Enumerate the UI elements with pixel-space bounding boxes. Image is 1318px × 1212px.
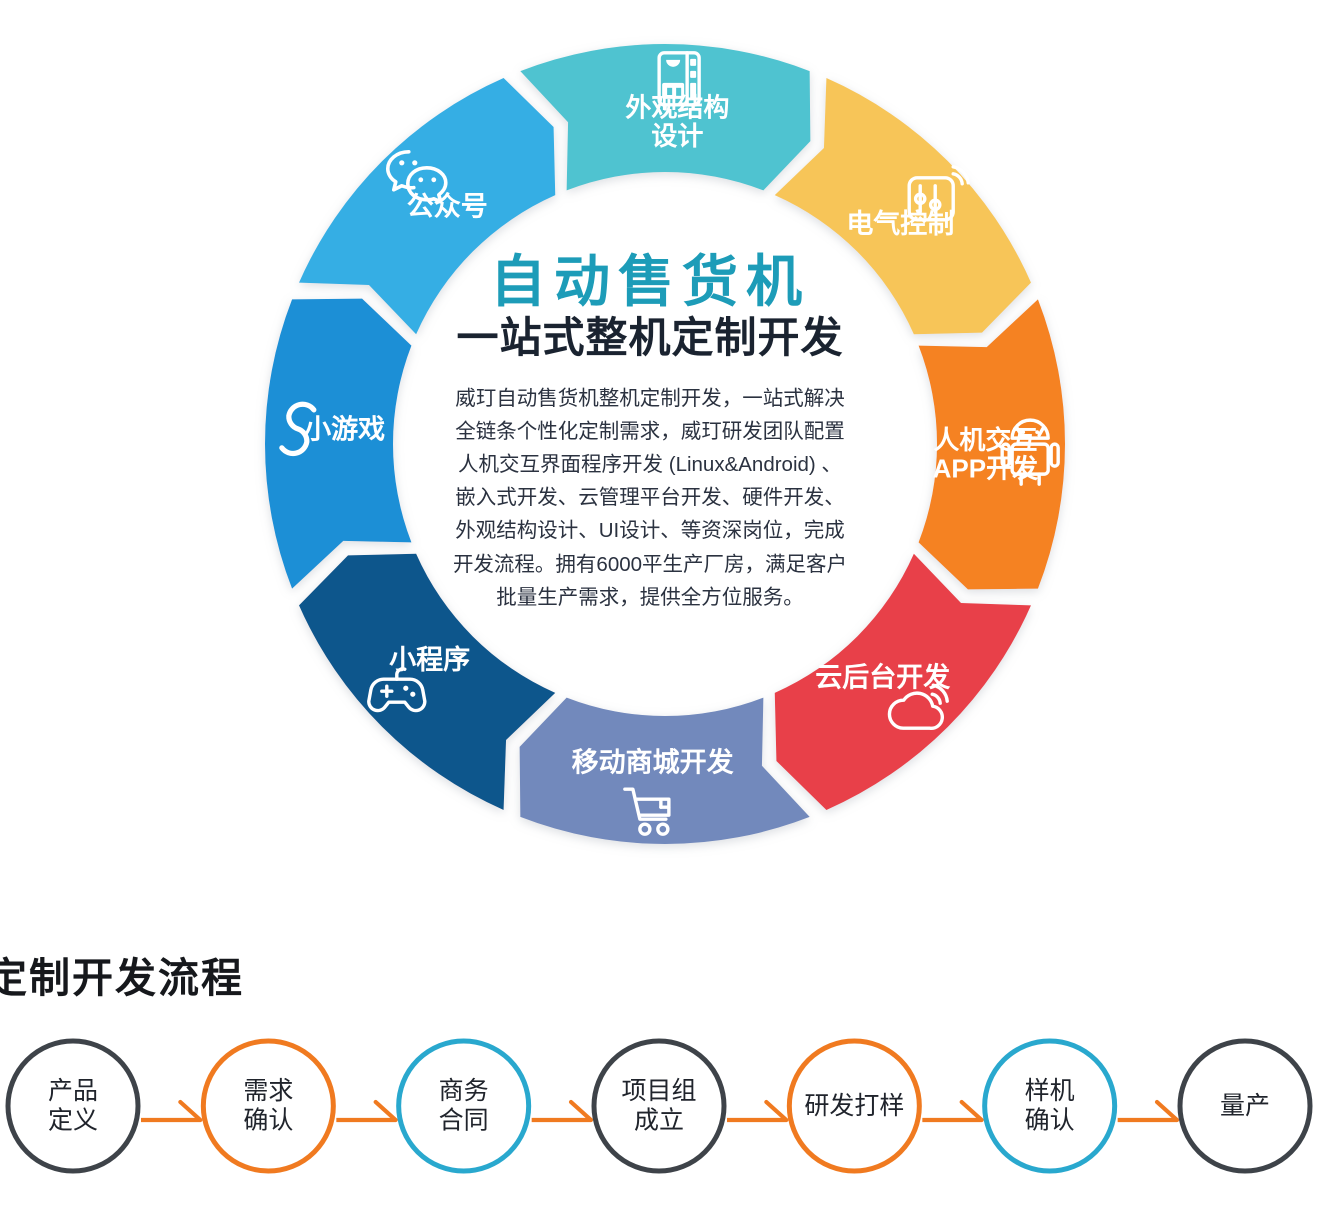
ring-label-line: 电气控制: [846, 209, 954, 239]
infographic-canvas: 外观结构设计电气控制人机交互APP开发云后台开发移动商城开发小程序小游戏公众号 …: [0, 0, 1318, 1212]
flow-label-line: 合同: [439, 1107, 489, 1135]
flow-arrow: [532, 1102, 591, 1120]
ring-label-line: 移动商城开发: [572, 747, 734, 778]
flow-label-line: 确认: [1025, 1107, 1075, 1135]
flow-arrow: [727, 1102, 786, 1120]
flow-label-line: 项目组: [621, 1077, 696, 1105]
ring-segment-label-mini-game: 小游戏: [304, 415, 385, 445]
description-line: 威玎自动售货机整机定制开发，一站式解决: [396, 382, 904, 415]
flow-step-mass-production[interactable]: 量产: [1180, 1041, 1310, 1171]
description-paragraph: 威玎自动售货机整机定制开发，一站式解决全链条个性化定制需求，威玎研发团队配置人机…: [392, 382, 908, 614]
description-line: 全链条个性化定制需求，威玎研发团队配置: [396, 415, 904, 448]
flow-arrow: [922, 1102, 981, 1120]
ring-segment-label-hmi-app-development: 人机交互APP开发: [933, 425, 1038, 484]
flow-arrow: [1118, 1102, 1177, 1120]
ring-label-line: 公众号: [407, 192, 488, 222]
description-line: 人机交互界面程序开发 (Linux&Android) 、: [396, 448, 904, 481]
flow-step-requirement-confirm[interactable]: 需求确认: [203, 1041, 333, 1171]
ring-label-line: APP开发: [933, 454, 1038, 484]
description-line: 嵌入式开发、云管理平台开发、硬件开发、: [396, 481, 904, 514]
flow-step-label-prototype-confirm: 样机确认: [1025, 1077, 1075, 1135]
ring-label-line: 设计: [651, 121, 703, 151]
flow-step-label-requirement-confirm: 需求确认: [243, 1077, 293, 1135]
page-title: 自动售货机: [392, 252, 908, 312]
center-content: 自动售货机 一站式整机定制开发 威玎自动售货机整机定制开发，一站式解决全链条个性…: [392, 252, 908, 672]
ring-label-line: 人机交互: [933, 425, 1037, 455]
flow-label-line: 量产: [1220, 1092, 1270, 1120]
page-subtitle: 一站式整机定制开发: [392, 314, 908, 361]
description-line: 批量生产需求，提供全方位服务。: [396, 581, 904, 614]
flow-step-project-team-setup[interactable]: 项目组成立: [594, 1041, 724, 1171]
flow-step-business-contract[interactable]: 商务合同: [399, 1041, 529, 1171]
flow-label-line: 定义: [48, 1107, 98, 1135]
flow-arrow: [336, 1102, 395, 1120]
flow-step-label-product-definition: 产品定义: [48, 1077, 98, 1135]
flow-section-heading: 定制开发流程: [0, 944, 244, 1004]
flow-label-line: 样机: [1025, 1077, 1075, 1105]
flow-arrow: [141, 1102, 200, 1120]
description-line: 外观结构设计、UI设计、等资深岗位，完成: [396, 514, 904, 547]
flow-label-line: 确认: [243, 1107, 293, 1135]
flow-step-label-business-contract: 商务合同: [439, 1077, 489, 1135]
flow-step-label-rd-prototyping: 研发打样: [804, 1092, 904, 1120]
flow-step-rd-prototyping[interactable]: 研发打样: [789, 1041, 919, 1171]
development-flow-diagram: 产品定义需求确认商务合同项目组成立研发打样样机确认量产: [0, 1022, 1318, 1194]
flow-step-product-definition[interactable]: 产品定义: [8, 1041, 138, 1171]
flow-label-line: 产品: [48, 1077, 98, 1105]
flow-label-line: 成立: [634, 1107, 684, 1135]
flow-label-line: 商务: [439, 1077, 489, 1105]
ring-segment-label-electrical-control: 电气控制: [846, 209, 954, 239]
description-line: 开发流程。拥有6000平生产厂房，满足客户: [396, 548, 904, 581]
ring-label-line: 小游戏: [304, 415, 385, 445]
flow-label-line: 需求: [243, 1077, 293, 1105]
ring-segment-label-official-account: 公众号: [407, 192, 488, 222]
ring-segment-label-mobile-mall-development: 移动商城开发: [572, 747, 734, 778]
flow-label-line: 研发打样: [804, 1092, 904, 1120]
ring-label-line: 外观结构: [625, 92, 729, 122]
flow-step-prototype-confirm[interactable]: 样机确认: [985, 1041, 1115, 1171]
flow-step-label-mass-production: 量产: [1220, 1092, 1270, 1120]
